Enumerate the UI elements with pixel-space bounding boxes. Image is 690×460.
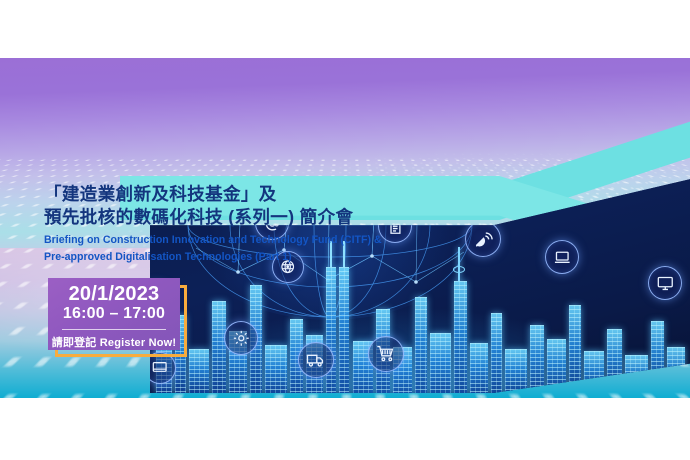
event-banner: 「建造業創新及科技基金」及 預先批核的數碼化科技 (系列一) 簡介會 Brief… [0,58,690,398]
monitor-icon [648,266,682,300]
delivery-truck-icon [298,342,334,378]
title-en-line1: Briefing on Construction Innovation and … [44,232,404,249]
gear-icon [224,321,258,355]
shopping-cart-icon [368,336,404,372]
title-block: 「建造業創新及科技基金」及 預先批核的數碼化科技 (系列一) 簡介會 Brief… [44,183,404,266]
banner-canvas: 「建造業創新及科技基金」及 預先批核的數碼化科技 (系列一) 簡介會 Brief… [0,0,690,460]
satellite-dish-icon [465,221,501,257]
title-en-line2: Pre-approved Digitalisation Technologies… [44,249,404,266]
date-card-divider [62,329,166,330]
date-card-wrapper[interactable]: 20/1/2023 16:00 – 17:00 請即登記 Register No… [48,278,180,350]
event-date: 20/1/2023 [48,284,180,305]
title-zh-line1: 「建造業創新及科技基金」及 [44,183,404,206]
event-time: 16:00 – 17:00 [48,305,180,324]
date-card[interactable]: 20/1/2023 16:00 – 17:00 請即登記 Register No… [48,278,180,350]
title-zh-line2: 預先批核的數碼化科技 (系列一) 簡介會 [44,206,404,229]
register-now-label[interactable]: 請即登記 Register Now! [48,334,180,350]
laptop-icon [545,240,579,274]
